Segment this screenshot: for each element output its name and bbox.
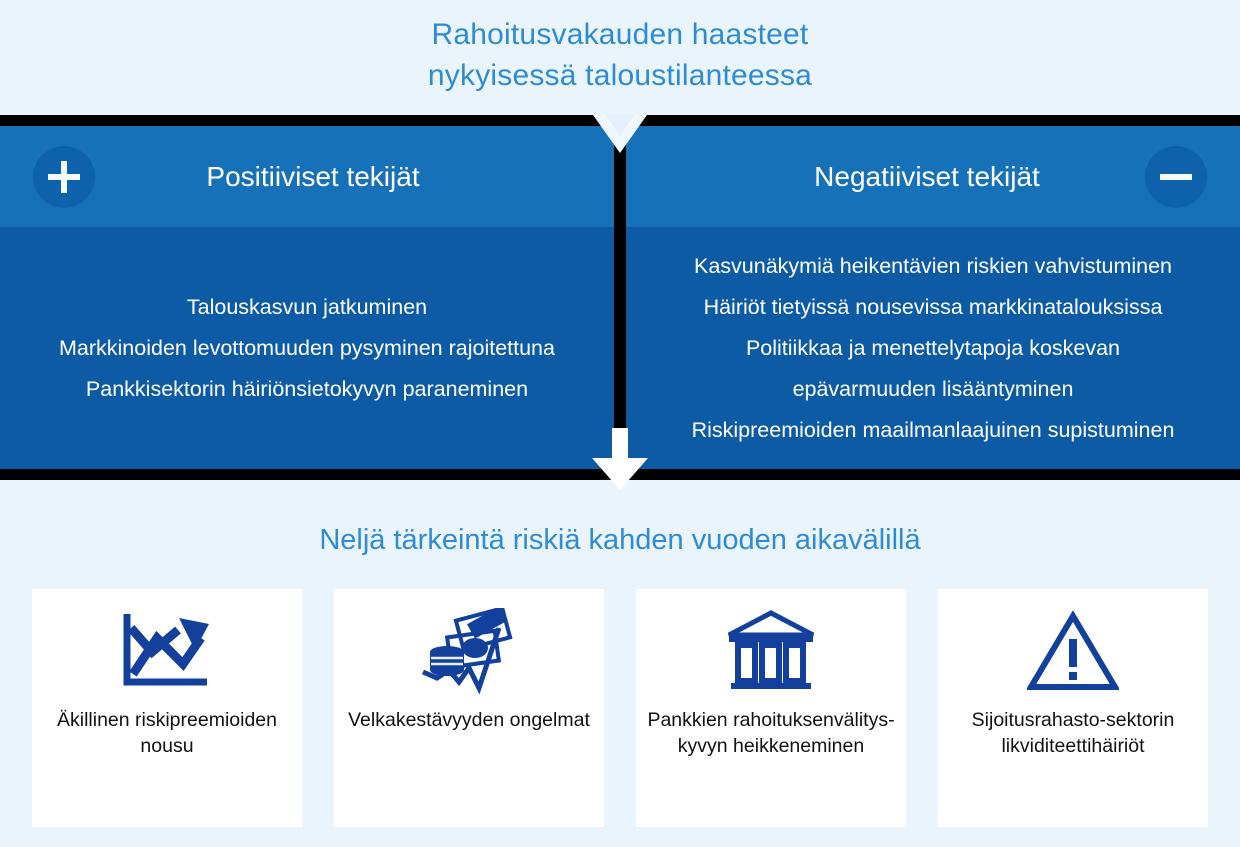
center-divider: [614, 126, 626, 480]
negative-header-band: Negatiiviset tekijät: [626, 126, 1240, 227]
risk-card-label: Sijoitusrahasto-sektorin likviditeettihä…: [938, 707, 1208, 759]
positive-heading: Positiiviset tekijät: [0, 126, 614, 227]
page-title-line-1: Rahoitusvakauden haasteet: [0, 14, 1240, 55]
negative-item: Riskipreemioiden maailmanlaajuinen supis…: [626, 410, 1240, 451]
risk-card-label: Äkillinen riskipreemioiden nousu: [32, 707, 302, 759]
banknotes-coins-chart-icon: [419, 589, 519, 707]
page-title-line-2: nykyisessä taloustilanteessa: [0, 55, 1240, 96]
positive-items-list: Talouskasvun jatkuminen Markkinoiden lev…: [0, 227, 614, 469]
bank-building-icon: [727, 589, 815, 707]
page-title: Rahoitusvakauden haasteet nykyisessä tal…: [0, 14, 1240, 96]
negative-item: Politiikkaa ja menettelytapoja koskevan: [626, 328, 1240, 369]
negative-heading: Negatiiviset tekijät: [626, 126, 1240, 227]
risk-cards-row: Äkillinen riskipreemioiden nousu: [32, 589, 1208, 827]
positive-item: Pankkisektorin häiriönsietokyvyn paranem…: [0, 369, 614, 410]
positive-factors-column: Positiiviset tekijät Talouskasvun jatkum…: [0, 126, 614, 469]
risk-card[interactable]: Äkillinen riskipreemioiden nousu: [32, 589, 302, 827]
risk-card[interactable]: Pankkien rahoituksenvälitys-kyvyn heikke…: [636, 589, 906, 827]
positive-header-band: Positiiviset tekijät: [0, 126, 614, 227]
negative-item: epävarmuuden lisääntyminen: [626, 369, 1240, 410]
risk-card-label: Pankkien rahoituksenvälitys-kyvyn heikke…: [636, 707, 906, 759]
rising-chart-arrow-icon: [121, 589, 213, 707]
positive-item: Markkinoiden levottomuuden pysyminen raj…: [0, 328, 614, 369]
warning-triangle-icon: [1027, 589, 1119, 707]
arrow-down-icon: [591, 428, 649, 491]
risk-card[interactable]: Velkakestävyyden ongelmat: [334, 589, 604, 827]
negative-factors-column: Negatiiviset tekijät Kasvunäkymiä heiken…: [626, 126, 1240, 469]
positive-item: Talouskasvun jatkuminen: [0, 287, 614, 328]
risk-card-label: Velkakestävyyden ongelmat: [338, 707, 600, 733]
negative-item: Kasvunäkymiä heikentävien riskien vahvis…: [626, 246, 1240, 287]
risk-card[interactable]: Sijoitusrahasto-sektorin likviditeettihä…: [938, 589, 1208, 827]
negative-item: Häiriöt tietyissä nousevissa markkinatal…: [626, 287, 1240, 328]
comparison-panel: Positiiviset tekijät Talouskasvun jatkum…: [0, 115, 1240, 480]
risks-section-heading: Neljä tärkeintä riskiä kahden vuoden aik…: [0, 521, 1240, 559]
negative-items-list: Kasvunäkymiä heikentävien riskien vahvis…: [626, 227, 1240, 469]
